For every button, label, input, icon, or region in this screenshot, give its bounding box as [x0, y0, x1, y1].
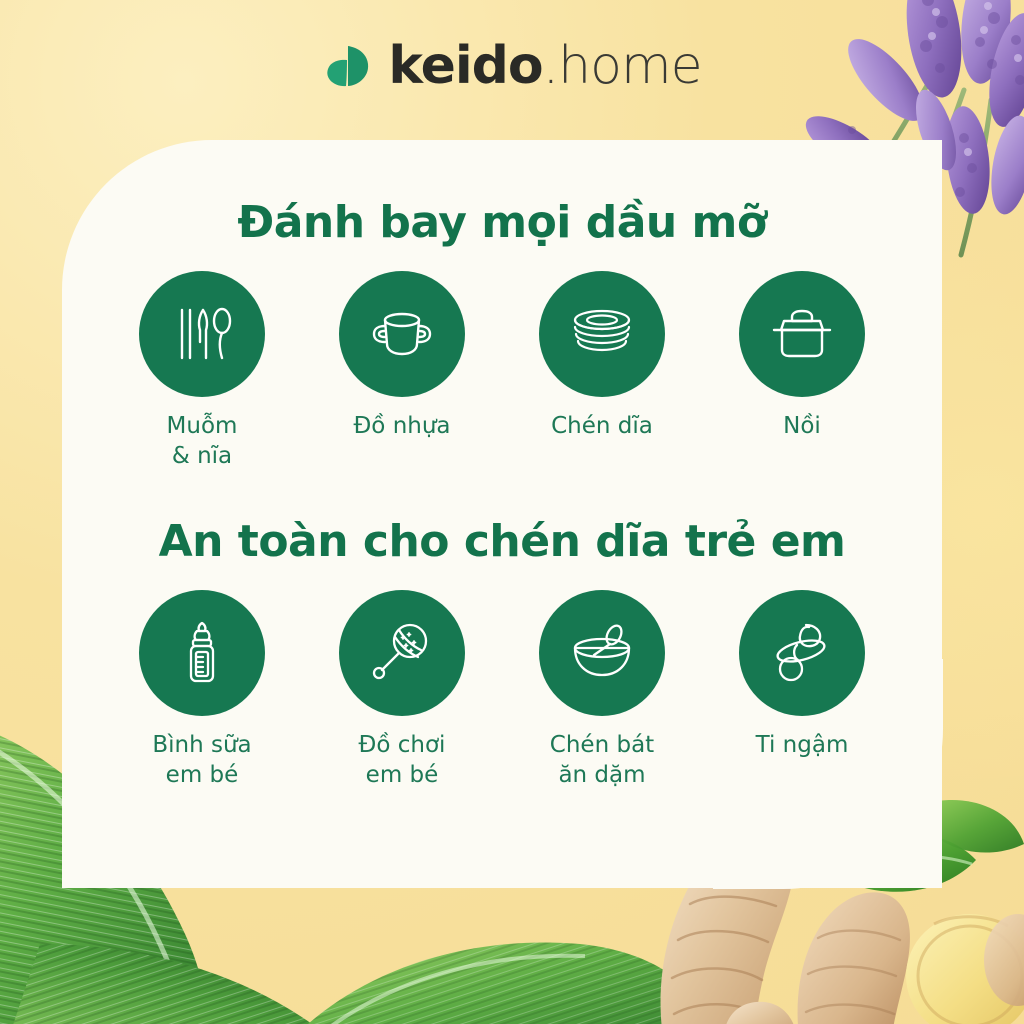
feature-label: Chén bát ăn dặm: [550, 730, 654, 791]
two-leaves-icon: [322, 40, 374, 92]
promo-poster: keido.home Đánh bay mọi dầu mỡ: [0, 0, 1024, 1024]
baby-rattle-icon: [366, 617, 438, 689]
content-card: Đánh bay mọi dầu mỡ Muỗm &: [62, 140, 942, 888]
feature-label: Chén dĩa: [551, 411, 653, 441]
baby-bottle-icon: [166, 617, 238, 689]
section-2-heading: An toàn cho chén dĩa trẻ em: [102, 517, 902, 568]
feature-label: Bình sữa em bé: [152, 730, 251, 791]
feature-item-baby-bowl[interactable]: Chén bát ăn dặm: [502, 590, 702, 791]
pacifier-icon: [766, 617, 838, 689]
feature-label: Đồ nhựa: [353, 411, 450, 441]
feature-item-pacifier[interactable]: Ti ngậm: [702, 590, 902, 760]
section-1-heading: Đánh bay mọi dầu mỡ: [102, 198, 902, 249]
icon-circle: [339, 271, 465, 397]
section-1-icon-row: Muỗm & nĩa Đồ nhựa: [102, 271, 902, 472]
logo-name-bold: keido: [388, 36, 542, 96]
icon-circle: [739, 271, 865, 397]
feature-item-baby-bottle[interactable]: Bình sữa em bé: [102, 590, 302, 791]
icon-circle: [539, 271, 665, 397]
feature-label: Ti ngậm: [756, 730, 849, 760]
stacked-plates-icon: [566, 298, 638, 370]
cutlery-icon: [166, 298, 238, 370]
bowl-spoon-icon: [566, 617, 638, 689]
feature-label: Đồ chơi em bé: [359, 730, 446, 791]
icon-circle: [739, 590, 865, 716]
logo-name-light: .home: [543, 36, 702, 96]
feature-item-plastic[interactable]: Đồ nhựa: [302, 271, 502, 441]
icon-circle: [539, 590, 665, 716]
icon-circle: [139, 271, 265, 397]
logo-wordmark: keido.home: [388, 40, 701, 92]
feature-item-dishes[interactable]: Chén dĩa: [502, 271, 702, 441]
feature-item-baby-toy[interactable]: Đồ chơi em bé: [302, 590, 502, 791]
sippy-cup-icon: [366, 298, 438, 370]
cooking-pot-icon: [766, 298, 838, 370]
feature-item-pot[interactable]: Nồi: [702, 271, 902, 441]
icon-circle: [139, 590, 265, 716]
brand-logo: keido.home: [0, 40, 1024, 92]
feature-item-cutlery[interactable]: Muỗm & nĩa: [102, 271, 302, 472]
section-2-icon-row: Bình sữa em bé: [102, 590, 902, 791]
icon-circle: [339, 590, 465, 716]
feature-label: Nồi: [783, 411, 821, 441]
feature-label: Muỗm & nĩa: [167, 411, 238, 472]
